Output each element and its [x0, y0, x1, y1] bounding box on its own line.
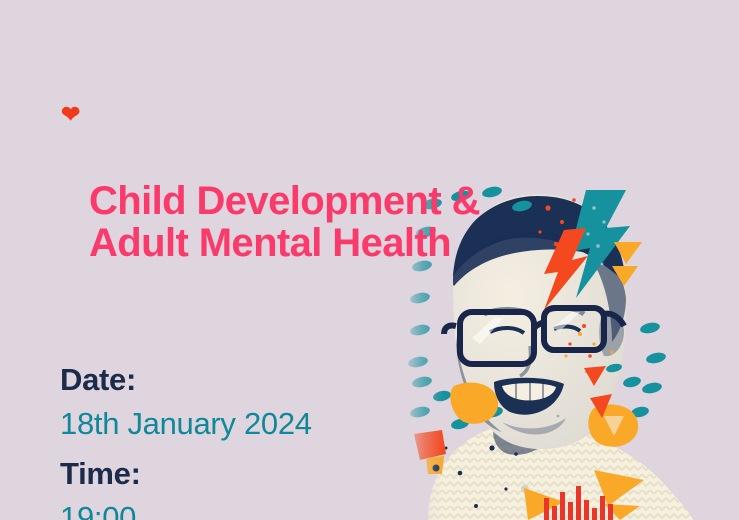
time-value: 19:00: [60, 496, 490, 520]
event-details: Date: 18th January 2024 Time: 19:00: [60, 358, 490, 520]
event-poster: ❤ Child Development & Adult Mental Healt…: [0, 0, 739, 520]
date-label: Date:: [60, 358, 490, 402]
time-label: Time:: [60, 452, 490, 496]
page-title-text: Child Development & Adult Mental Health: [60, 180, 490, 264]
page-title: ❤ Child Development & Adult Mental Healt…: [60, 96, 490, 306]
date-value: 18th January 2024: [60, 402, 490, 446]
heart-icon: ❤: [61, 103, 83, 125]
poster-text-column: ❤ Child Development & Adult Mental Healt…: [60, 96, 490, 520]
